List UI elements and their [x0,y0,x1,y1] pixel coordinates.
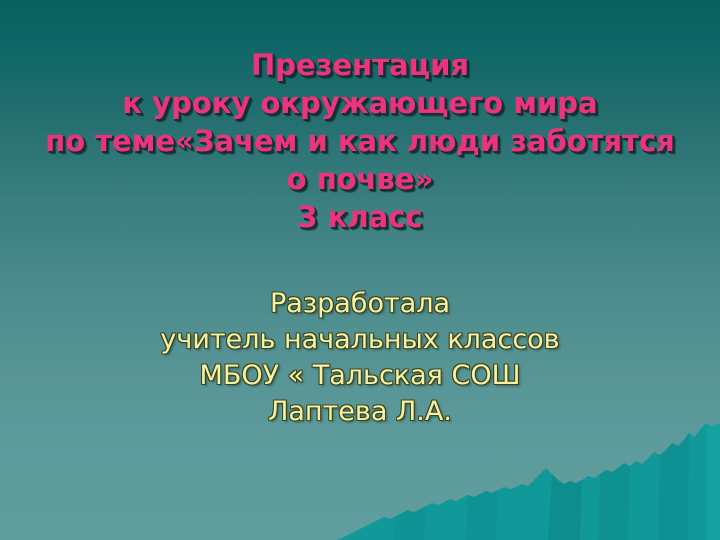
subtitle-line-4: Лаптева Л.А. [0,394,720,430]
mountain-shade-right [658,433,689,540]
slide-title: Презентация к уроку окружающего мира по … [0,46,720,236]
mountain-shade-foot [394,506,426,540]
mountain-main-shape [336,423,720,540]
mountain-highlight-edge [706,423,720,540]
subtitle-line-2: учитель начальных классов [0,322,720,358]
slide-subtitle: Разработала учитель начальных классов МБ… [0,286,720,430]
title-line-2: к уроку окружающего мира [0,84,720,122]
title-line-3: по теме«Зачем и как люди заботятся [0,122,720,160]
mountain-shade-mid [598,463,630,540]
presentation-title-slide: Презентация к уроку окружающего мира по … [0,0,720,540]
title-line-5: 3 класс [0,198,720,236]
subtitle-line-1: Разработала [0,286,720,322]
title-line-1: Презентация [0,46,720,84]
mountain-shade-left [548,474,582,540]
mountain-shade-far-left [466,490,498,540]
title-line-4: о почве» [0,160,720,198]
subtitle-line-3: МБОУ « Тальская СОШ [0,358,720,394]
